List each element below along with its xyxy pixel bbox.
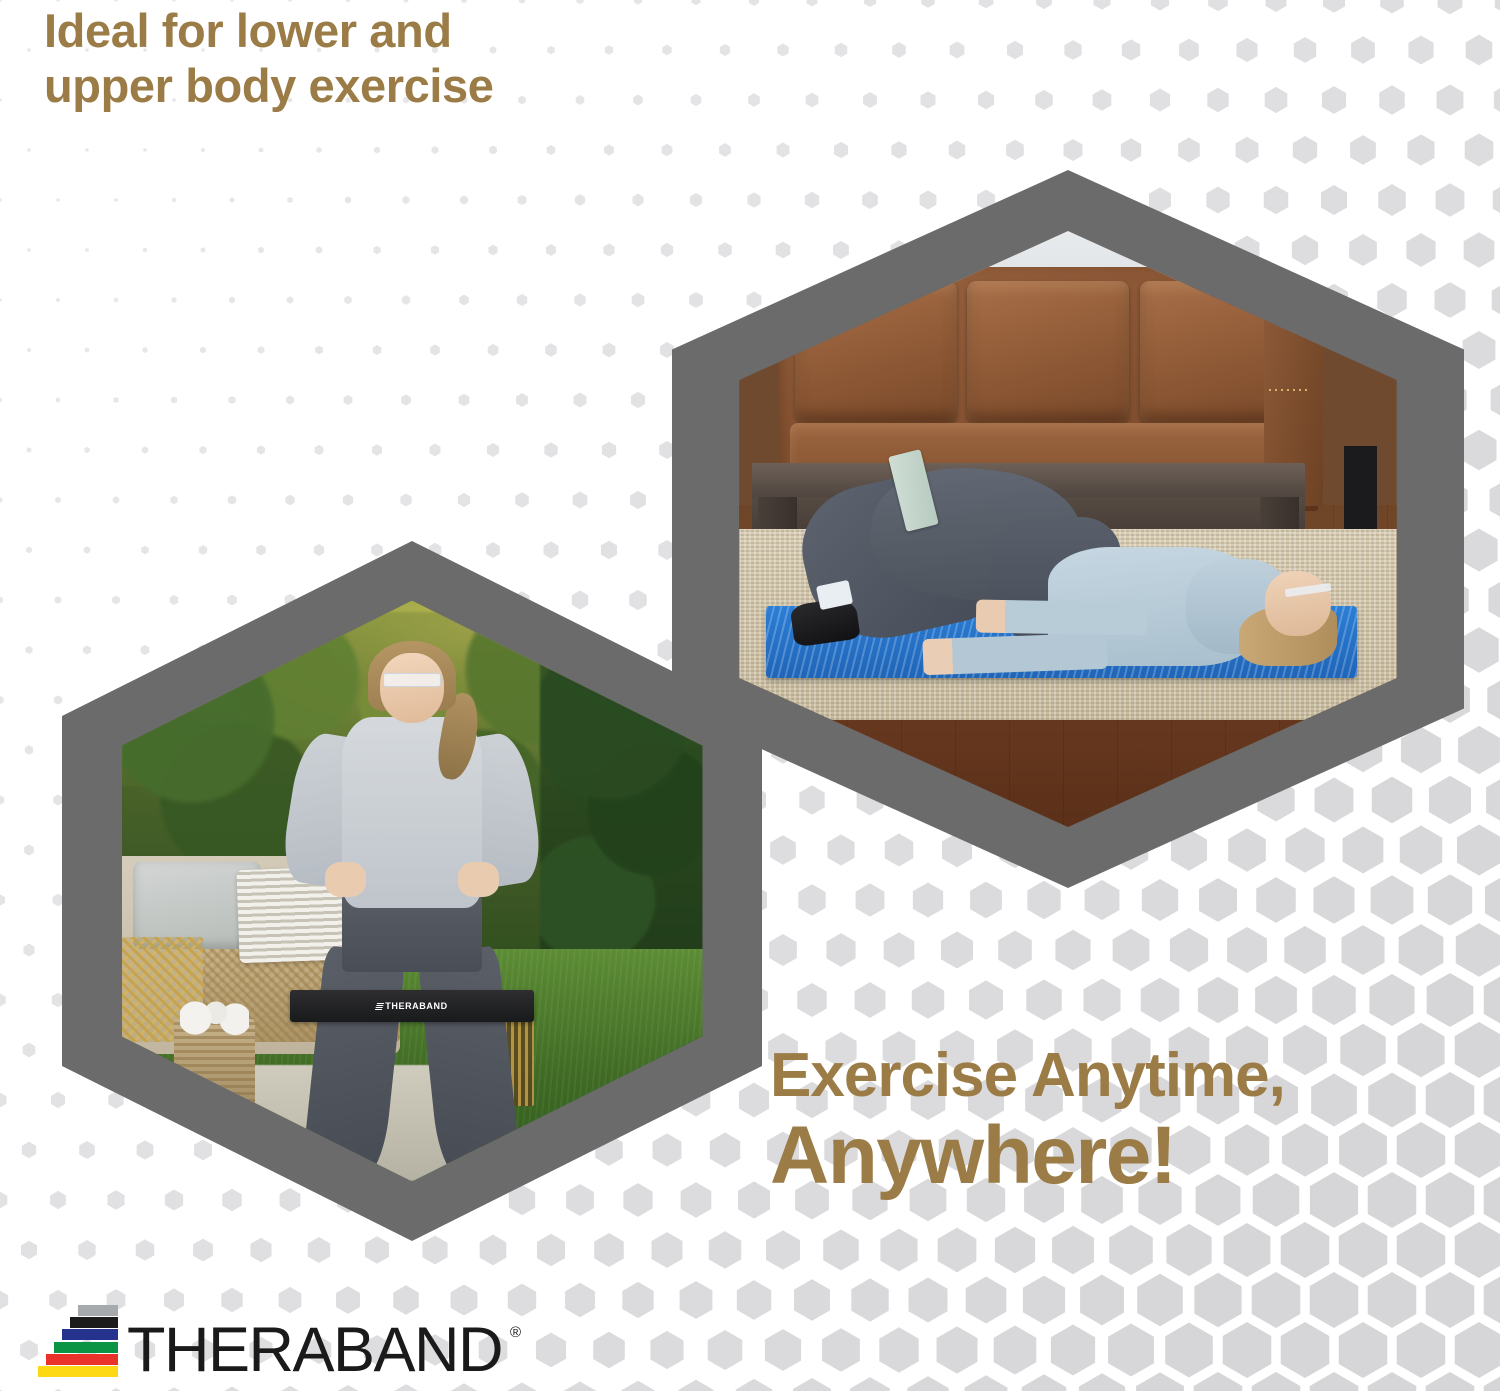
- band-logo-label: THERABAND: [376, 1001, 447, 1011]
- hex-frame-border: [672, 170, 1464, 888]
- person-head: [1265, 571, 1331, 637]
- registered-trademark-symbol: ®: [510, 1327, 521, 1339]
- photo-garden-standing-band: THERABAND: [122, 601, 703, 1182]
- band-logo-text: THERABAND: [385, 1001, 447, 1011]
- photo-hex-garden: THERABAND: [62, 541, 762, 1241]
- theraband-resistance-band: THERABAND: [290, 990, 534, 1022]
- hex-frame-border: THERABAND: [62, 541, 762, 1241]
- decor-balls: [180, 996, 250, 1037]
- photo-hex-livingroom: [672, 170, 1464, 888]
- hex-photo-clip: THERABAND: [122, 601, 703, 1182]
- theraband-logo: THERABAND ®: [38, 1305, 502, 1377]
- sofa-cushion: [967, 281, 1129, 423]
- person-left-hand: [325, 862, 366, 897]
- logo-stripe-silver: [78, 1305, 118, 1316]
- headline-bottom: Exercise Anytime, Anywhere!: [770, 1045, 1285, 1197]
- floor-speaker: [1344, 446, 1377, 541]
- headline-bottom-line2: Anywhere!: [770, 1115, 1285, 1197]
- logo-stripe-red: [46, 1354, 118, 1365]
- person-arm: [976, 599, 1147, 635]
- sofa-cushion: [795, 281, 957, 423]
- logo-stripe-blue: [62, 1329, 118, 1340]
- logo-stripe-yellow: [38, 1366, 118, 1377]
- sofa-nailhead-trim: [1269, 389, 1307, 391]
- headline-top-line1: Ideal for lower and: [44, 4, 494, 59]
- photo-livingroom-glute-bridge: [739, 231, 1396, 827]
- band-logo-stripes-icon: [375, 1003, 384, 1010]
- hex-photo-clip: [739, 231, 1396, 827]
- theraband-wordmark: THERABAND ®: [127, 1325, 502, 1377]
- theraband-stripes-icon: [38, 1305, 118, 1377]
- headline-bottom-line1: Exercise Anytime,: [770, 1045, 1285, 1107]
- person-right-hand: [458, 862, 499, 897]
- person-glasses: [383, 673, 441, 687]
- headline-top-line2: upper body exercise: [44, 59, 494, 114]
- person-head: [380, 653, 444, 723]
- headline-top: Ideal for lower and upper body exercise: [44, 4, 494, 114]
- person-arm: [923, 633, 1108, 675]
- logo-stripe-green: [54, 1342, 118, 1353]
- theraband-wordmark-text: THERABAND: [127, 1315, 502, 1385]
- logo-stripe-black: [70, 1317, 118, 1328]
